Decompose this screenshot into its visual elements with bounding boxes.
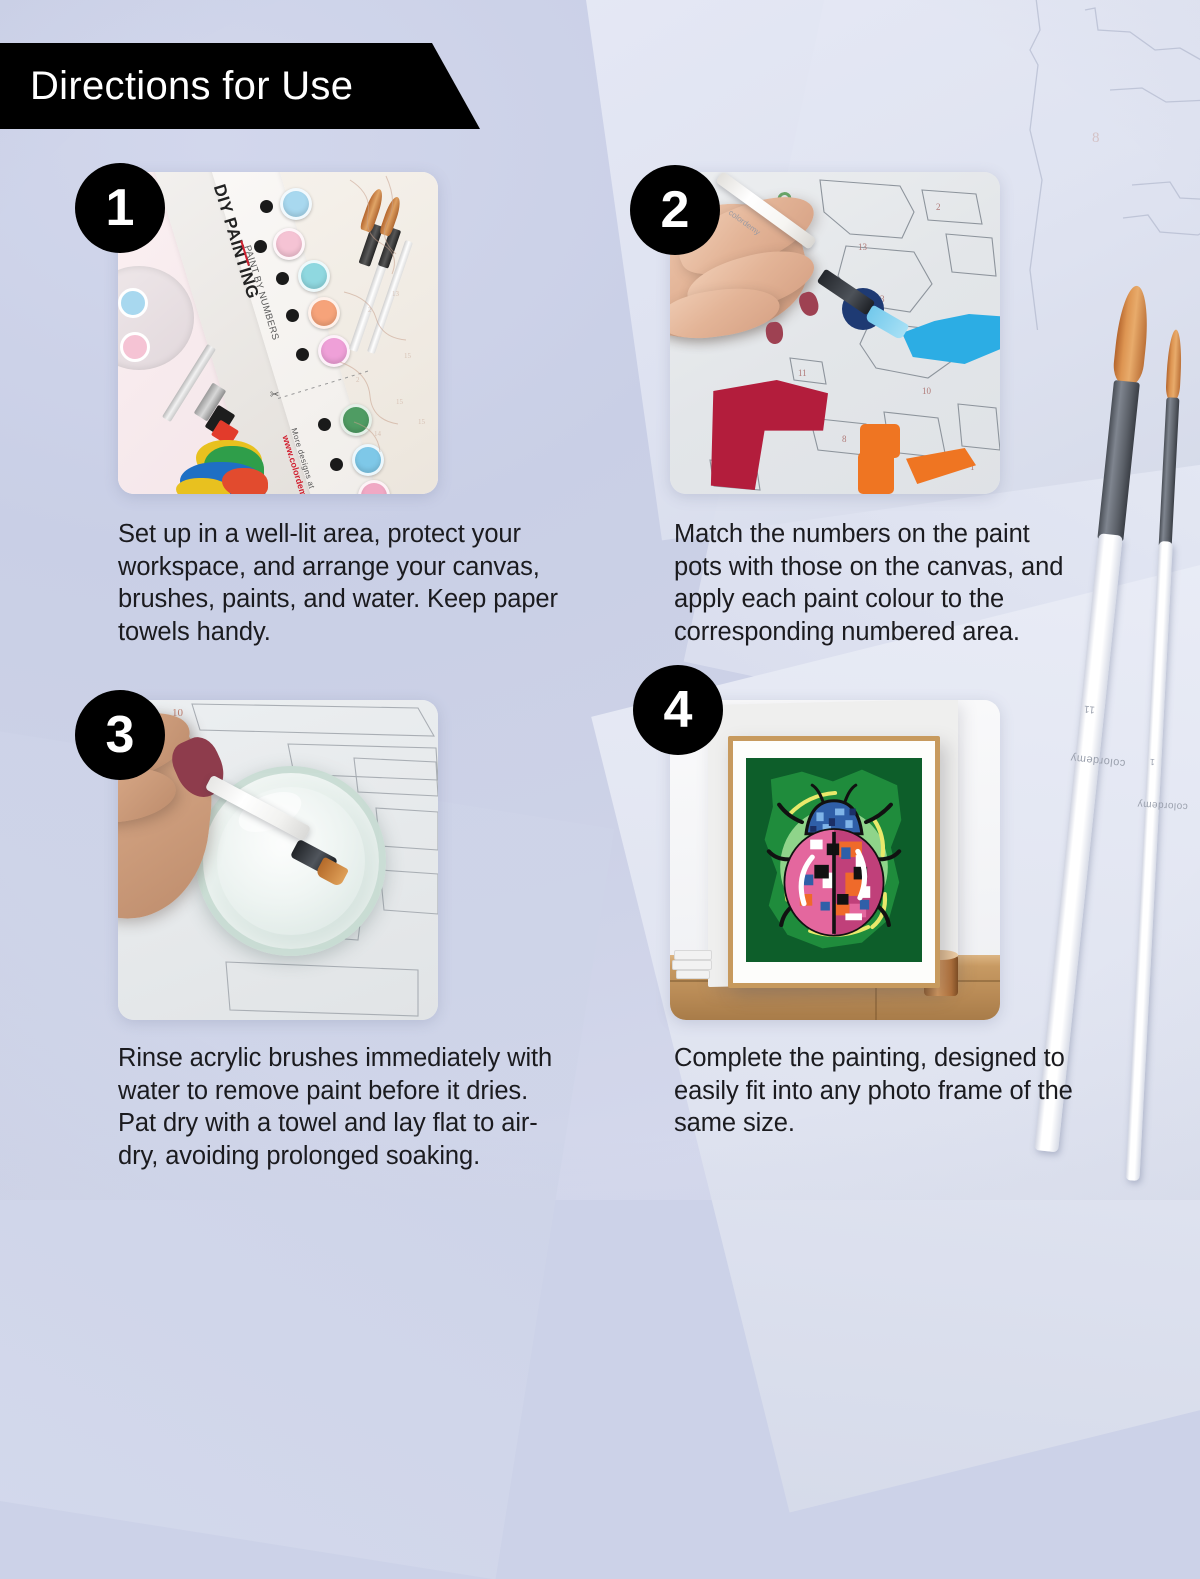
step-2-photo: 213 310 814 111: [670, 172, 1000, 494]
books-stack: [672, 960, 712, 970]
beetle-illustration-icon: [746, 758, 922, 962]
artwork-beetle: [746, 758, 922, 962]
svg-text:2: 2: [368, 306, 372, 314]
step-description-1: Set up in a well-lit area, protect your …: [118, 518, 566, 649]
step-4-photo: [670, 700, 1000, 1020]
svg-text:15: 15: [404, 352, 412, 360]
painted-area-orange-2: [858, 452, 894, 494]
svg-text:13: 13: [392, 290, 400, 298]
step-number-2: 2: [661, 184, 690, 236]
step-1-photo: DIY PAINTING PAINT BY NUMBERS More desig…: [118, 172, 438, 494]
books-stack: [674, 950, 712, 960]
kit-canvas-outlines-icon: 213 152 1514 15: [334, 172, 438, 494]
step-description-2: Match the numbers on the paint pots with…: [674, 518, 1078, 649]
page-title: Directions for Use: [0, 66, 353, 106]
step-badge-3: 3: [75, 690, 165, 780]
svg-text:2: 2: [356, 376, 360, 384]
books-stack: [676, 970, 710, 979]
svg-text:15: 15: [396, 398, 404, 406]
svg-text:11: 11: [798, 368, 807, 378]
step-badge-4: 4: [633, 665, 723, 755]
step-description-3: Rinse acrylic brushes immediately with w…: [118, 1042, 566, 1173]
step-3-photo: 10: [118, 700, 438, 1020]
step-badge-1: 1: [75, 163, 165, 253]
svg-text:10: 10: [922, 386, 932, 396]
steps-grid: DIY PAINTING PAINT BY NUMBERS More desig…: [0, 0, 1200, 1200]
header-banner: Directions for Use: [0, 43, 500, 129]
svg-text:15: 15: [418, 418, 426, 426]
picture-frame: [728, 736, 940, 988]
svg-text:14: 14: [374, 430, 382, 438]
step-badge-2: 2: [630, 165, 720, 255]
svg-text:2: 2: [936, 202, 941, 212]
svg-text:8: 8: [842, 434, 847, 444]
scissors-icon: ✂: [270, 388, 279, 401]
svg-text:13: 13: [858, 242, 868, 252]
step-number-3: 3: [106, 709, 135, 761]
step-number-1: 1: [106, 182, 135, 234]
step-description-4: Complete the painting, designed to easil…: [674, 1042, 1078, 1140]
step-number-4: 4: [664, 684, 693, 736]
